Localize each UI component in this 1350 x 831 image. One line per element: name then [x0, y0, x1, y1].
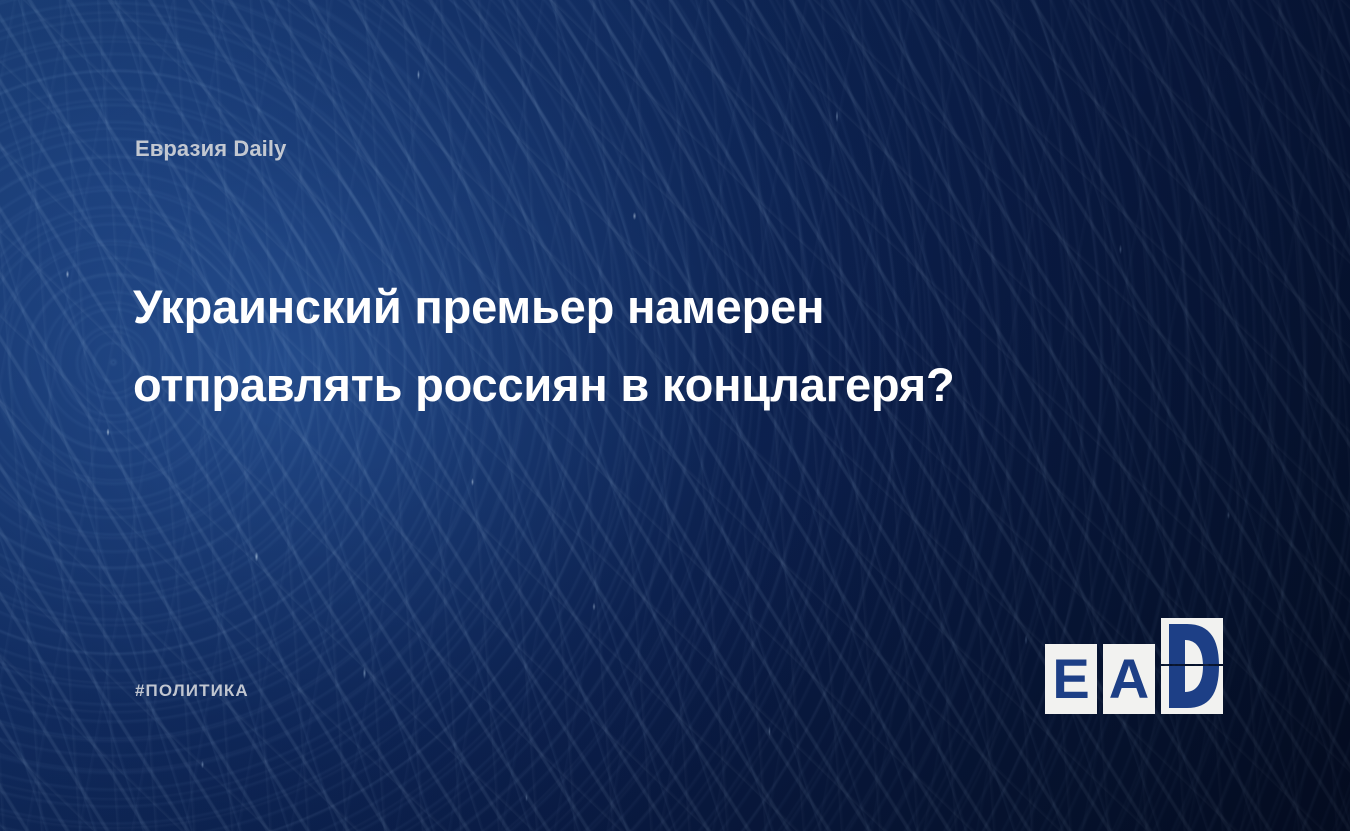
headline-line-2: отправлять россиян в концлагеря?	[133, 346, 1113, 424]
eadaily-logo[interactable]: E A	[1045, 618, 1223, 714]
page-title: Украинский премьер намерен отправлять ро…	[133, 268, 1113, 424]
logo-letter-d-lower	[1161, 666, 1223, 714]
headline-line-1: Украинский премьер намерен	[133, 268, 1113, 346]
brand-name: Евразия Daily	[135, 136, 286, 162]
logo-letter-e: E	[1045, 644, 1097, 714]
card-content: Евразия Daily Украинский премьер намерен…	[0, 0, 1350, 831]
logo-letter-d-upper	[1161, 618, 1223, 664]
category-hashtag[interactable]: #ПОЛИТИКА	[135, 681, 249, 701]
news-promo-card: Евразия Daily Украинский премьер намерен…	[0, 0, 1350, 831]
logo-letter-a: A	[1103, 644, 1155, 714]
